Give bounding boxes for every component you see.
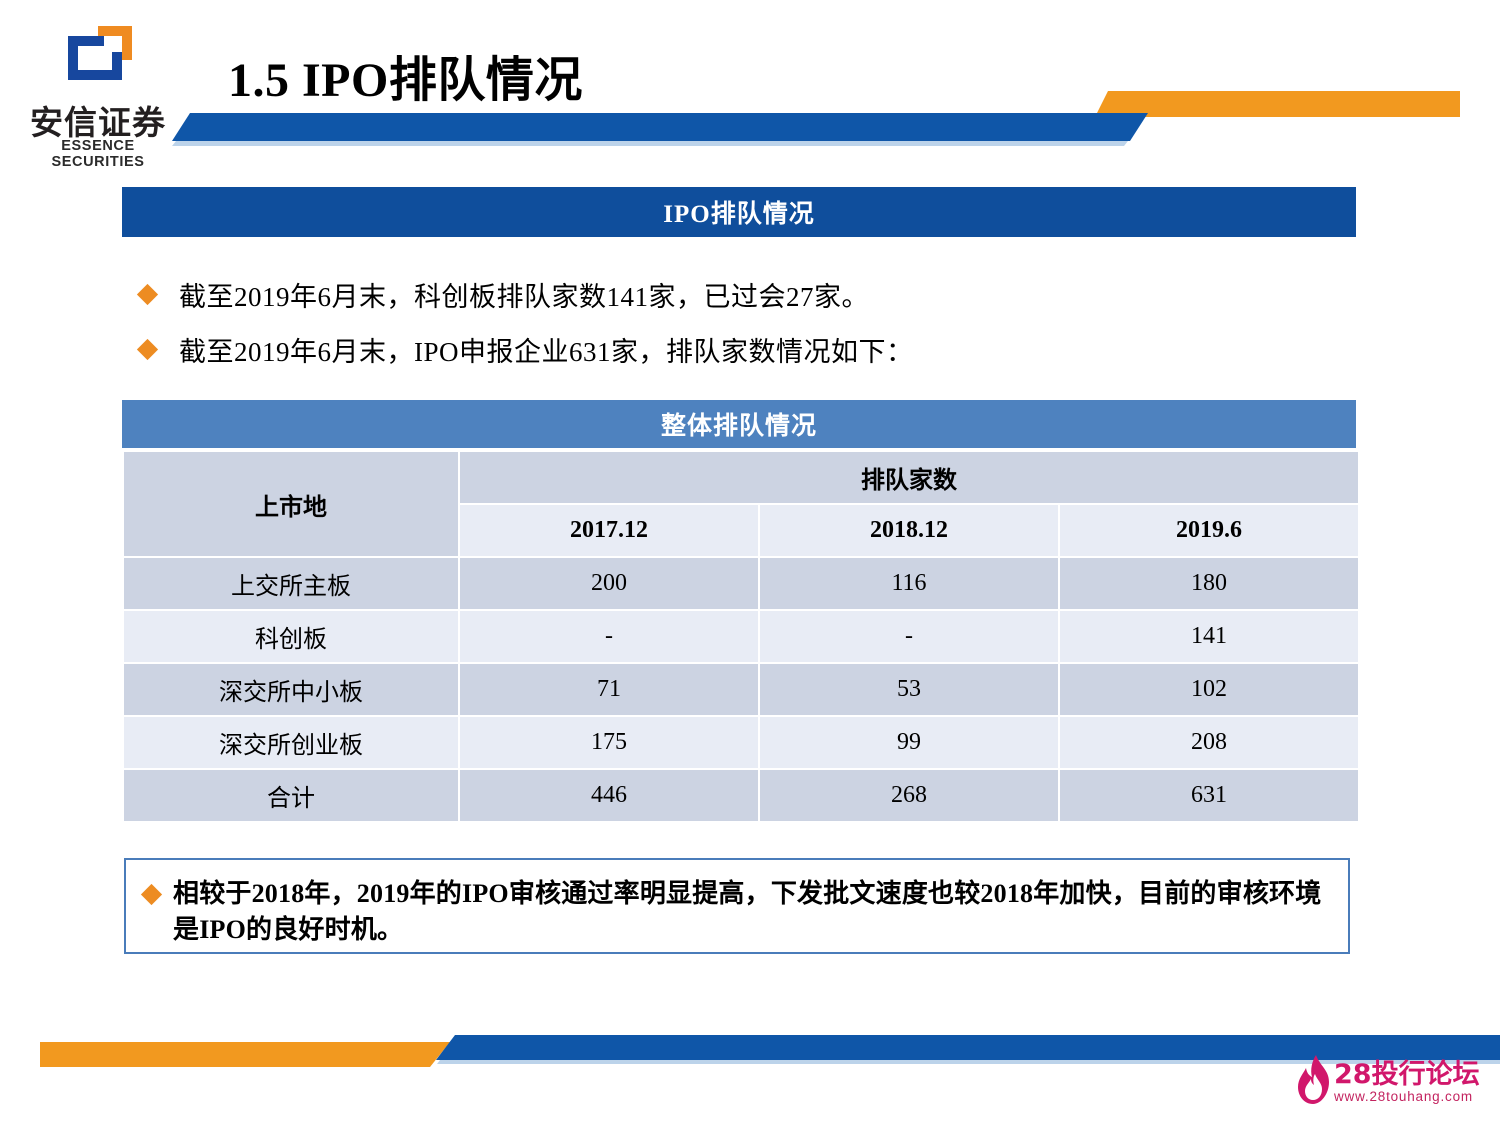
watermark-url: www.28touhang.com [1334,1089,1473,1104]
diamond-bullet-icon [137,284,158,305]
row-place: 合计 [124,770,458,821]
conclusion-box: 相较于2018年，2019年的IPO审核通过率明显提高，下发批文速度也较2018… [124,858,1350,954]
footer-decoration-bars [0,1010,1500,1125]
row-value: 53 [760,664,1058,715]
header-group: 排队家数 [460,452,1358,503]
table-row: 合计 446 268 631 [124,770,1358,821]
bullet-item: 截至2019年6月末，科创板排队家数141家，已过会27家。 [140,275,869,314]
section-title-label: IPO排队情况 [663,194,814,230]
page-title: 1.5 IPO排队情况 [228,40,583,110]
queue-table: 整体排队情况 上市地 排队家数 2017.12 2018.12 2019.6 上… [122,400,1356,823]
row-value: 99 [760,717,1058,768]
brand-name-en: ESSENCE SECURITIES [18,138,178,170]
row-value: 180 [1060,558,1358,609]
bullet-item: 截至2019年6月末，IPO申报企业631家，排队家数情况如下： [140,330,914,369]
table-row: 上交所主板 200 116 180 [124,558,1358,609]
header-place: 上市地 [124,452,458,556]
row-place: 深交所创业板 [124,717,458,768]
brand-logo: 安信证券 ESSENCE SECURITIES [18,22,178,160]
diamond-bullet-icon [137,339,158,360]
table-caption: 整体排队情况 [122,400,1356,448]
row-place: 科创板 [124,611,458,662]
brand-name-cn: 安信证券 [18,96,178,144]
slide-footer [0,1010,1500,1125]
flame-icon [1296,1054,1332,1106]
table-row: 科创板 - - 141 [124,611,1358,662]
row-value: 102 [1060,664,1358,715]
footer-watermark: 28投行论坛 www.28touhang.com [1296,1052,1492,1118]
section-title-bar: IPO排队情况 [122,187,1356,237]
table-row: 深交所中小板 71 53 102 [124,664,1358,715]
table-caption-label: 整体排队情况 [661,406,817,442]
slide-header: 安信证券 ESSENCE SECURITIES 1.5 IPO排队情况 [0,0,1500,170]
diamond-bullet-icon [141,884,162,905]
queue-data-table: 上市地 排队家数 2017.12 2018.12 2019.6 上交所主板 20… [122,450,1360,823]
header-decoration-bars [0,0,1500,170]
row-value: 175 [460,717,758,768]
row-value: 200 [460,558,758,609]
header-period: 2017.12 [460,505,758,556]
row-value: 631 [1060,770,1358,821]
bullet-text: 截至2019年6月末，科创板排队家数141家，已过会27家。 [179,275,869,314]
header-period: 2019.6 [1060,505,1358,556]
conclusion-text: 相较于2018年，2019年的IPO审核通过率明显提高，下发批文速度也较2018… [173,876,1334,948]
row-value: 116 [760,558,1058,609]
row-value: 268 [760,770,1058,821]
row-value: 141 [1060,611,1358,662]
essence-logo-mark-icon [60,22,138,94]
row-value: - [460,611,758,662]
row-place: 上交所主板 [124,558,458,609]
row-value: 208 [1060,717,1358,768]
row-place: 深交所中小板 [124,664,458,715]
header-period: 2018.12 [760,505,1058,556]
table-row: 深交所创业板 175 99 208 [124,717,1358,768]
watermark-title: 28投行论坛 [1334,1052,1480,1091]
table-header-row-group: 上市地 排队家数 [124,452,1358,503]
row-value: - [760,611,1058,662]
row-value: 71 [460,664,758,715]
bullet-text: 截至2019年6月末，IPO申报企业631家，排队家数情况如下： [179,330,914,369]
row-value: 446 [460,770,758,821]
